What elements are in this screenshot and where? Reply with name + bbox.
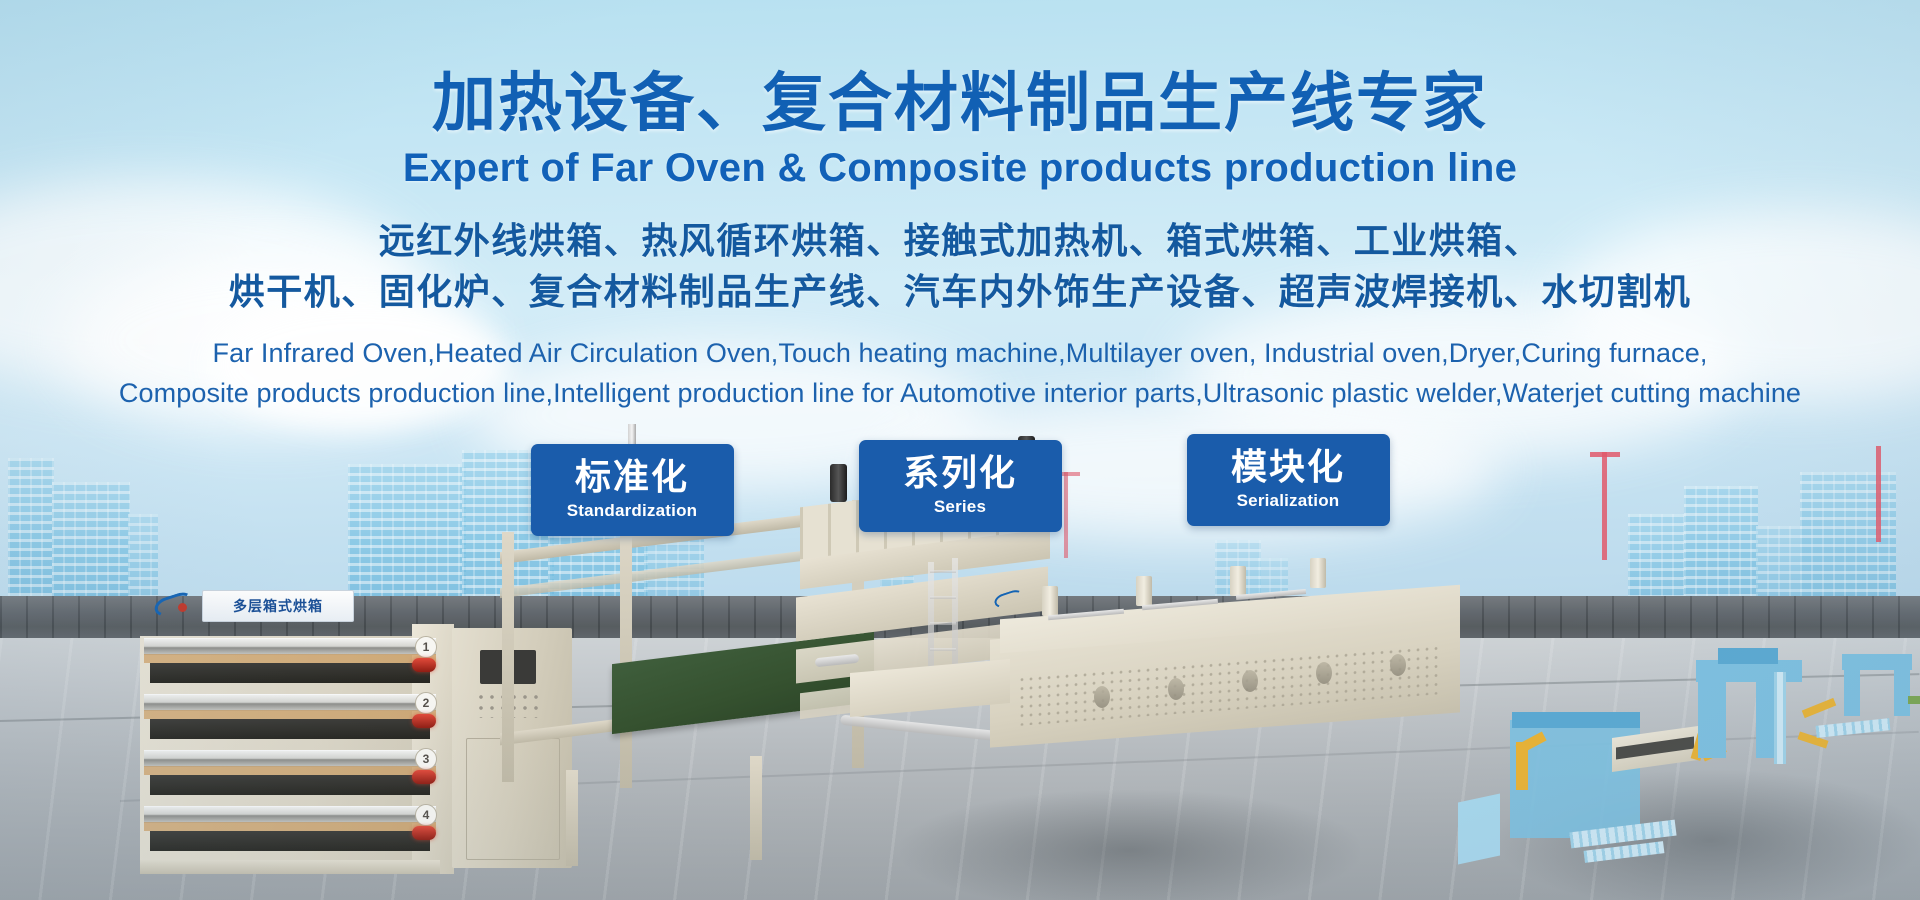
automated-production-line <box>1450 650 1920 900</box>
oven-exhaust-stack <box>1230 566 1246 596</box>
product-list-en-line-1: Far Infrared Oven,Heated Air Circulation… <box>0 334 1920 373</box>
oven-exhaust-stack <box>1136 576 1152 606</box>
product-list-en-line-2: Composite products production line,Intel… <box>0 374 1920 413</box>
oven-indicator-1: 1 <box>415 636 437 658</box>
robot-arm <box>1802 698 1837 718</box>
product-list-cn-line-1: 远红外线烘箱、热风循环烘箱、接触式加热机、箱式烘箱、工业烘箱、 <box>0 216 1920 267</box>
oven-indicator-3: 3 <box>415 748 437 770</box>
oven-indicator-4: 4 <box>415 804 437 826</box>
feature-badge-row: 标准化 Standardization 系列化 Series 模块化 Seria… <box>0 444 1920 536</box>
oven-viewport <box>1242 670 1258 692</box>
badge-series[interactable]: 系列化 Series <box>859 440 1062 532</box>
oven-indicator-light-4 <box>412 826 436 840</box>
press-stairs <box>1774 672 1786 764</box>
product-list-chinese: 远红外线烘箱、热风循环烘箱、接触式加热机、箱式烘箱、工业烘箱、 烘干机、固化炉、… <box>0 216 1920 318</box>
badge-series-en: Series <box>934 497 986 517</box>
oven-exhaust-stack <box>1310 558 1326 588</box>
oven-viewport <box>1316 662 1332 684</box>
tunnel-oven-machine <box>990 590 1510 780</box>
oven-indicator-light-2 <box>412 714 436 728</box>
banner-text-block: 加热设备、复合材料制品生产线专家 Expert of Far Oven & Co… <box>0 0 1920 413</box>
oven-viewport <box>1390 654 1406 676</box>
machine-nameplate-label: 多层箱式烘箱 <box>233 596 323 616</box>
badge-series-cn: 系列化 <box>903 455 1017 493</box>
machine-nameplate: 多层箱式烘箱 <box>202 590 354 622</box>
oven-viewport <box>1094 686 1110 708</box>
badge-serialization[interactable]: 模块化 Serialization <box>1187 434 1390 526</box>
product-list-english: Far Infrared Oven,Heated Air Circulation… <box>0 334 1920 413</box>
badge-standardization-cn: 标准化 <box>575 459 689 497</box>
oven-indicator-light-1 <box>412 658 436 672</box>
page-title: 加热设备、复合材料制品生产线专家 <box>0 72 1920 136</box>
oven-viewport <box>1168 678 1184 700</box>
badge-serialization-cn: 模块化 <box>1231 449 1345 487</box>
brand-logo-icon <box>148 592 200 618</box>
oven-exhaust-stack <box>1042 586 1058 616</box>
page-subtitle: Expert of Far Oven & Composite products … <box>0 146 1920 190</box>
badge-serialization-en: Serialization <box>1237 491 1340 511</box>
badge-standardization[interactable]: 标准化 Standardization <box>531 444 734 536</box>
oven-indicator-light-3 <box>412 770 436 784</box>
oven-indicator-2: 2 <box>415 692 437 714</box>
blue-cabinet <box>1458 794 1500 865</box>
badge-standardization-en: Standardization <box>567 501 698 521</box>
hero-banner: 多层箱式烘箱 1 2 3 4 <box>0 0 1920 900</box>
product-list-cn-line-2: 烘干机、固化炉、复合材料制品生产线、汽车内外饰生产设备、超声波焊接机、水切割机 <box>0 267 1920 318</box>
